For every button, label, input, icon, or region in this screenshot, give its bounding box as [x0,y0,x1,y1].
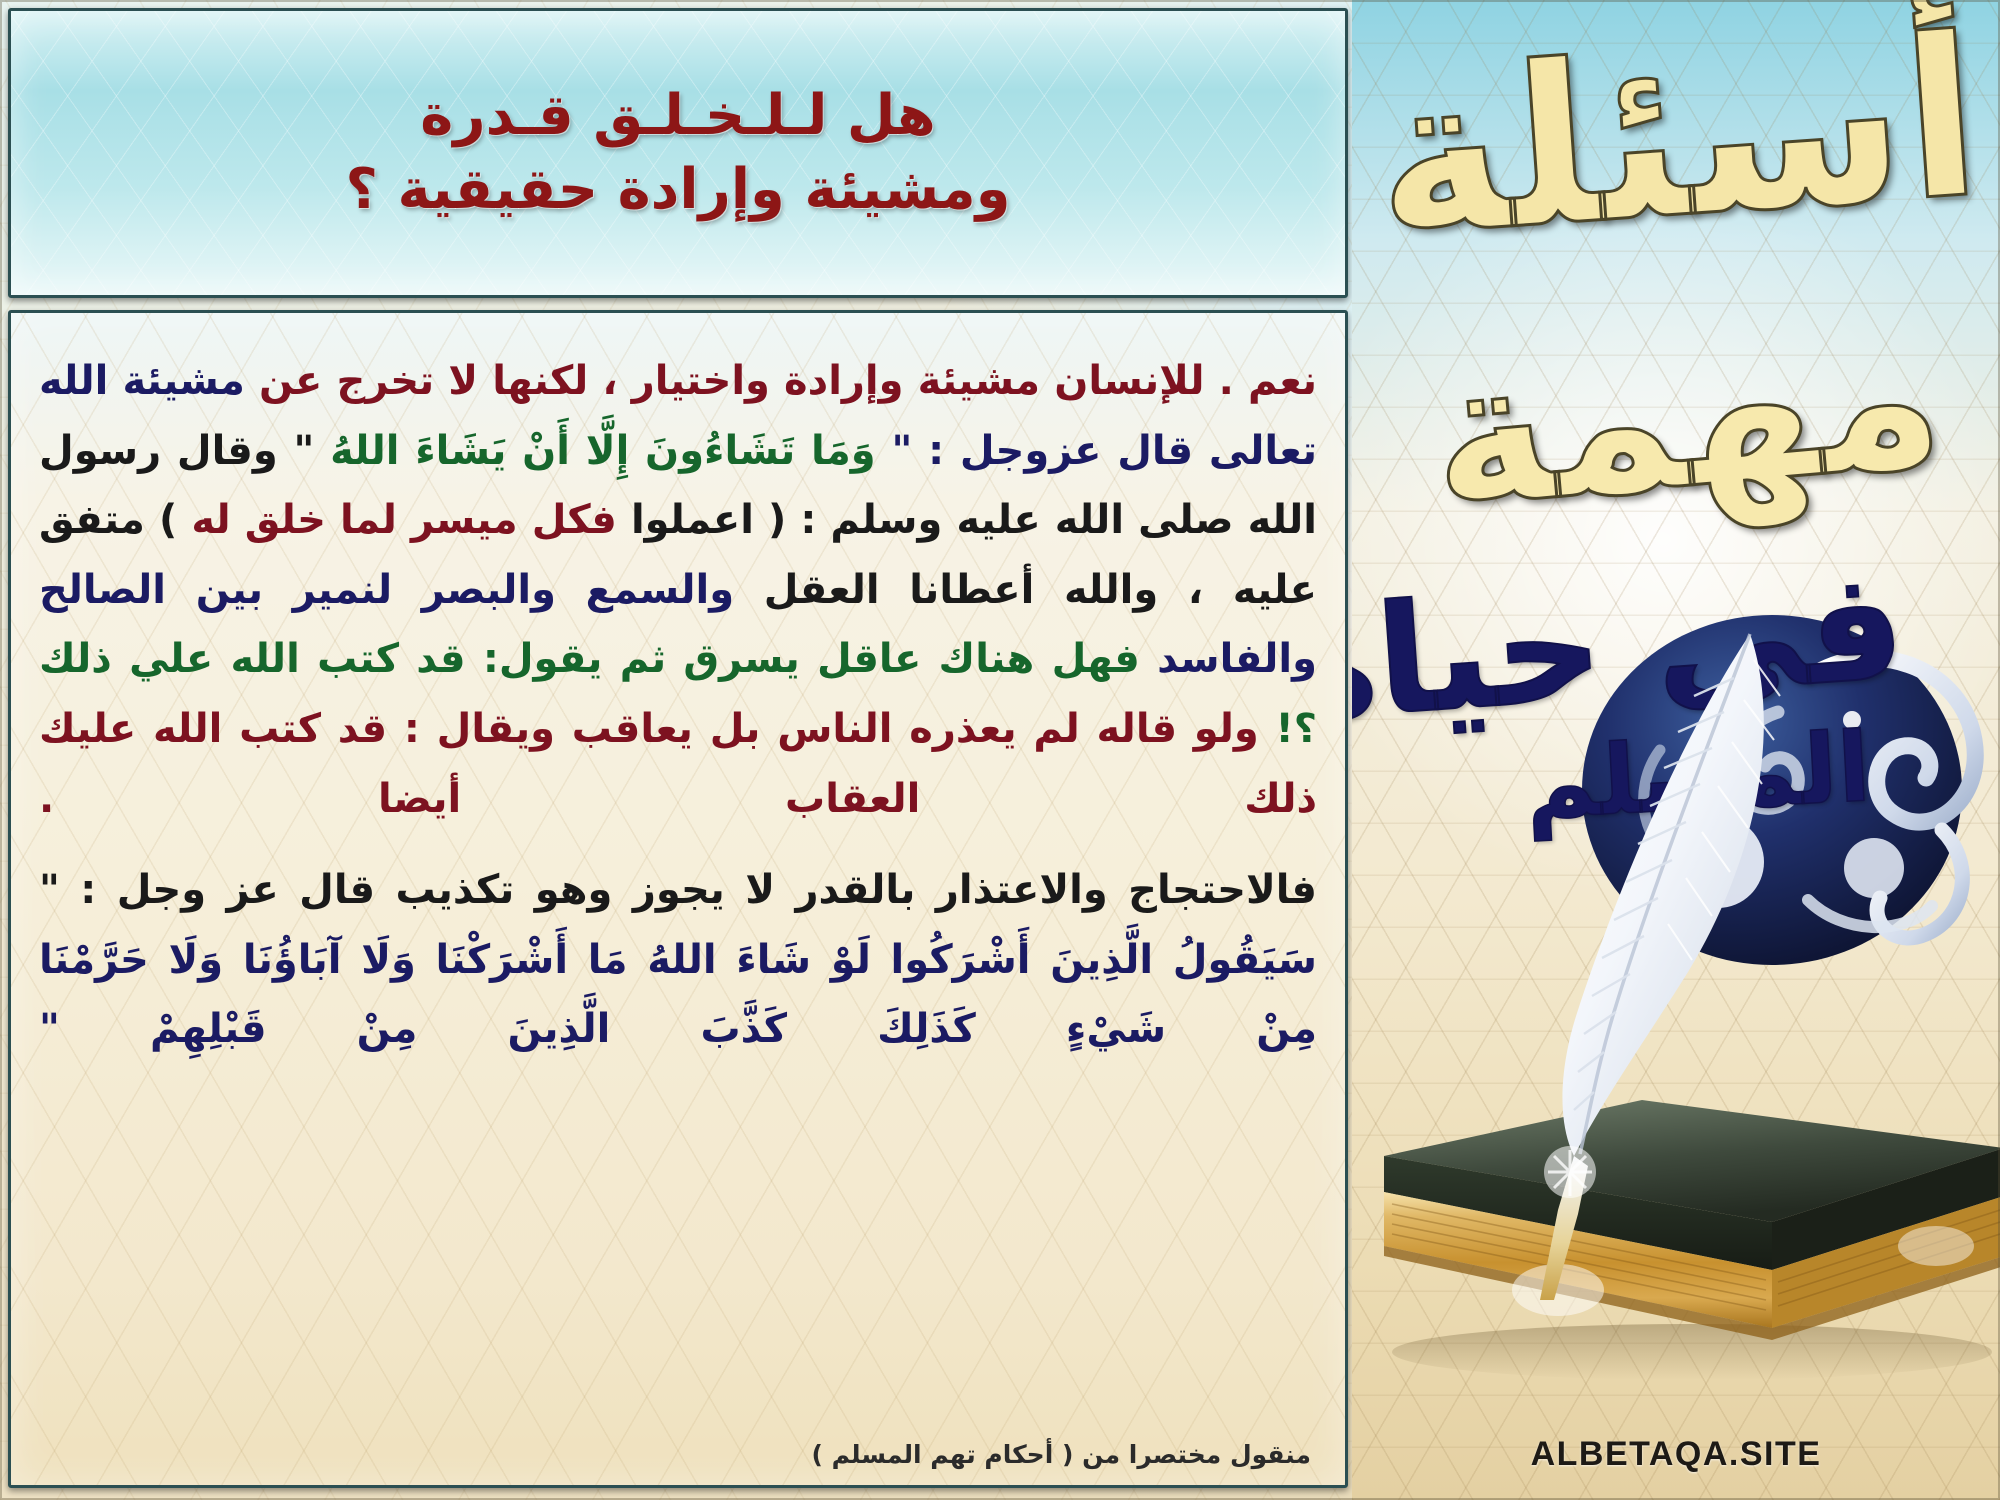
brand-title-line-2: مهمة [1422,278,1952,555]
quill-feather-illustration [1462,600,1802,1320]
question-title-line-2: ومشيئة وإرادة حقيقية ؟ [346,153,1011,227]
question-header-panel: هل لـلـخـلـق قـدرة ومشيئة وإرادة حقيقية … [8,8,1348,298]
answer-p1-hadith-text: فكل ميسر لما خلق له [191,497,617,543]
source-attribution: منقول مختصرا من ( أحكام تهم المسلم ) [811,1440,1311,1469]
answer-p1-quran-verse-1: وَمَا تَشَاءُونَ إِلَّا أَنْ يَشَاءَ الل… [330,428,876,474]
answer-text: نعم . للإنسان مشيئة وإرادة واختيار ، لكن… [39,347,1317,1065]
answer-p2-closing-quote: " [39,1006,60,1052]
islamic-question-card: هل لـلـخـلـق قـدرة ومشيئة وإرادة حقيقية … [0,0,2000,1500]
brand-illustration-column: أسئلة مهمة في حياة المسلم [1352,0,2000,1500]
brand-title-line-1: أسئلة [1367,0,1988,287]
answer-paragraph-1: نعم . للإنسان مشيئة وإرادة واختيار ، لكن… [39,347,1317,834]
answer-paragraph-2: فالاحتجاج والاعتذار بالقدر لا يجوز وهو ت… [39,856,1317,1065]
answer-p2-seg-1: فالاحتجاج والاعتذار بالقدر لا يجوز وهو ت… [39,867,1317,913]
answer-p1-seg-9: ولو قاله لم يعذره الناس بل يعاقب ويقال :… [39,706,1317,822]
site-watermark: ALBETAQA.SITE [1352,1435,2000,1474]
content-column: هل لـلـخـلـق قـدرة ومشيئة وإرادة حقيقية … [8,8,1348,1492]
answer-body-panel: نعم . للإنسان مشيئة وإرادة واختيار ، لكن… [8,310,1348,1488]
answer-p2-quran-verse-2: سَيَقُولُ الَّذِينَ أَشْرَكُوا لَوْ شَاء… [39,937,1317,1053]
question-title: هل لـلـخـلـق قـدرة ومشيئة وإرادة حقيقية … [306,79,1051,227]
answer-p1-seg-1: نعم . للإنسان مشيئة وإرادة واختيار ، لكن… [259,358,1317,404]
question-title-line-1: هل لـلـخـلـق قـدرة [346,79,1011,153]
